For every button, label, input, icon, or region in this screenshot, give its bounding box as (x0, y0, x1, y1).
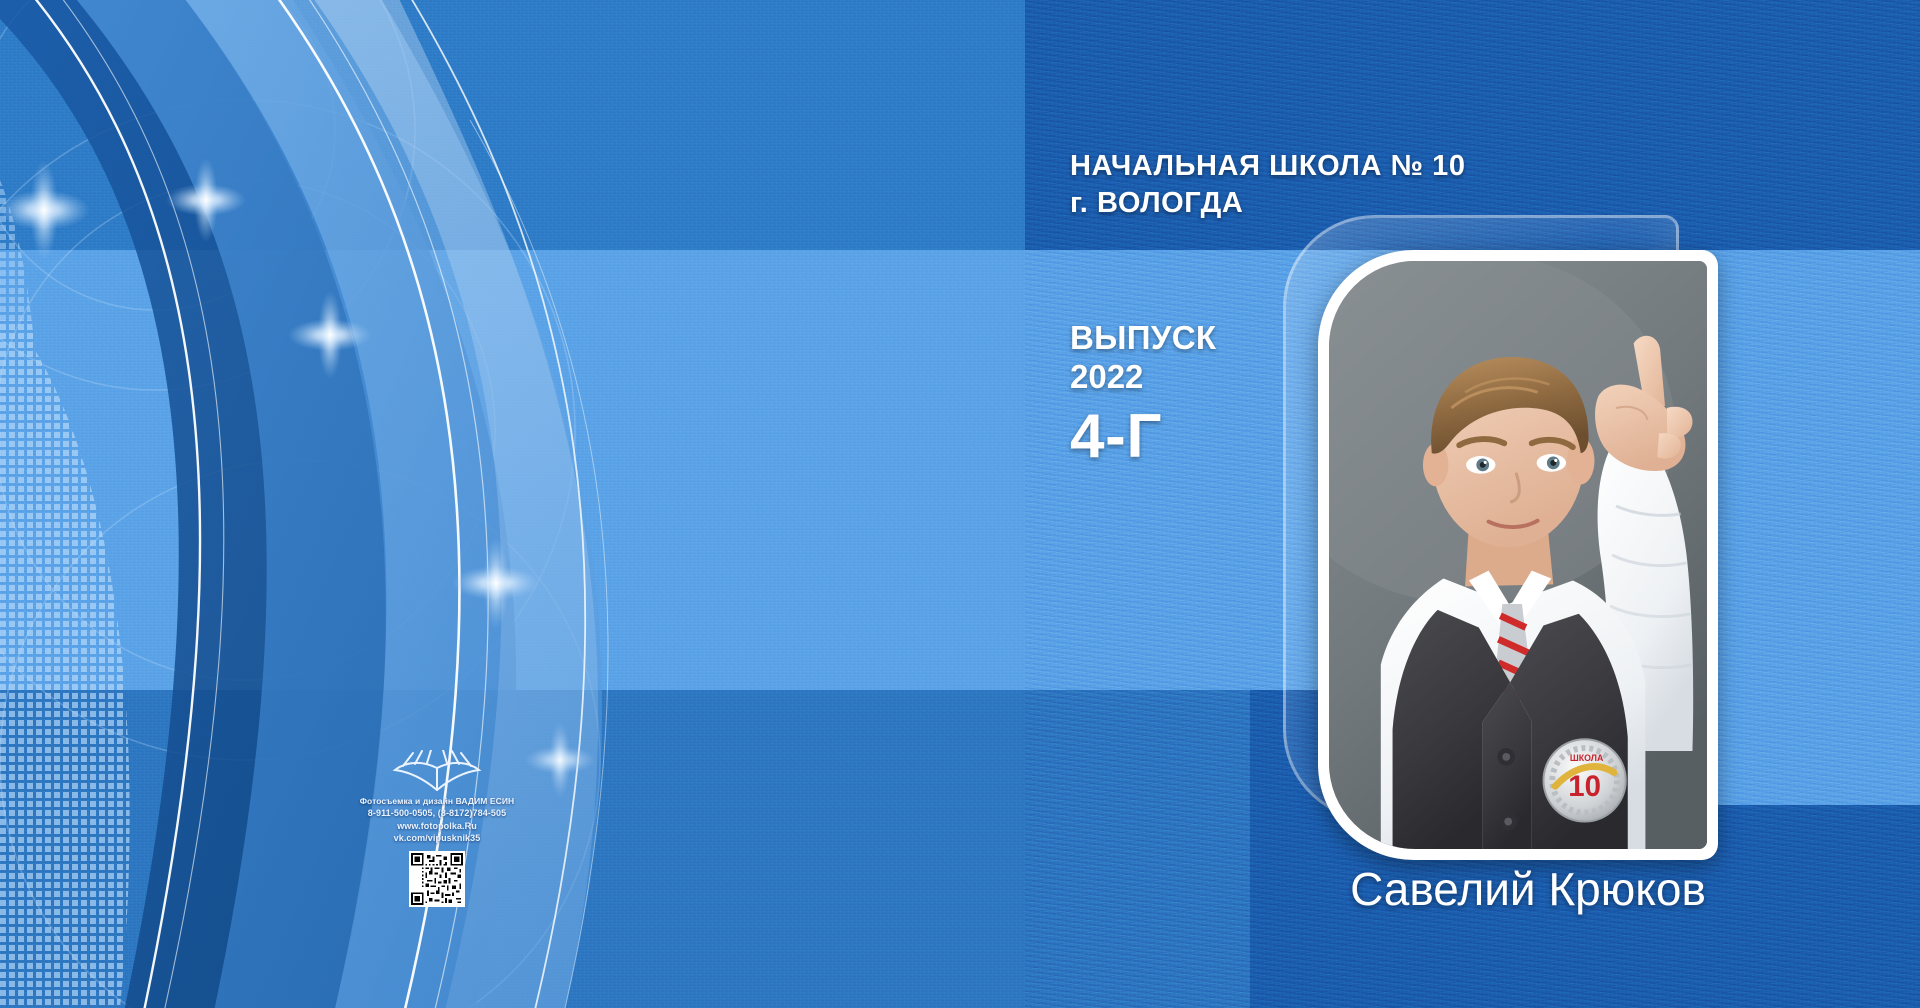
release-label: ВЫПУСК (1070, 320, 1216, 356)
qr-code-icon[interactable] (409, 851, 465, 907)
school-name-line: НАЧАЛЬНАЯ ШКОЛА № 10 (1070, 148, 1466, 185)
credit-phone: 8-911-500-0505, (8-8172)784-505 (312, 807, 562, 819)
credit-vk[interactable]: vk.com/vipusknik35 (312, 832, 562, 844)
credit-author: Фотосъемка и дизайн ВАДИМ ЕСИН (312, 796, 562, 807)
school-heading: НАЧАЛЬНАЯ ШКОЛА № 10 г. ВОЛОГДА (1070, 148, 1466, 222)
svg-text:ШКОЛА: ШКОЛА (1570, 753, 1604, 763)
release-class: 4-Г (1070, 401, 1216, 472)
open-book-icon (391, 750, 483, 794)
student-photo: 10 ШКОЛА (1329, 261, 1707, 849)
release-info: ВЫПУСК 2022 4-Г (1070, 320, 1216, 472)
badge-number: 10 (1568, 770, 1601, 803)
photographer-credit: Фотосъемка и дизайн ВАДИМ ЕСИН 8-911-500… (312, 750, 562, 907)
student-photo-card: 10 ШКОЛА (1318, 250, 1718, 860)
credit-website[interactable]: www.fotopolka.Ru (312, 820, 562, 832)
release-year: 2022 (1070, 356, 1216, 397)
student-name: Савелий Крюков (1318, 862, 1738, 916)
album-spread: НАЧАЛЬНАЯ ШКОЛА № 10 г. ВОЛОГДА ВЫПУСК 2… (0, 0, 1920, 1008)
